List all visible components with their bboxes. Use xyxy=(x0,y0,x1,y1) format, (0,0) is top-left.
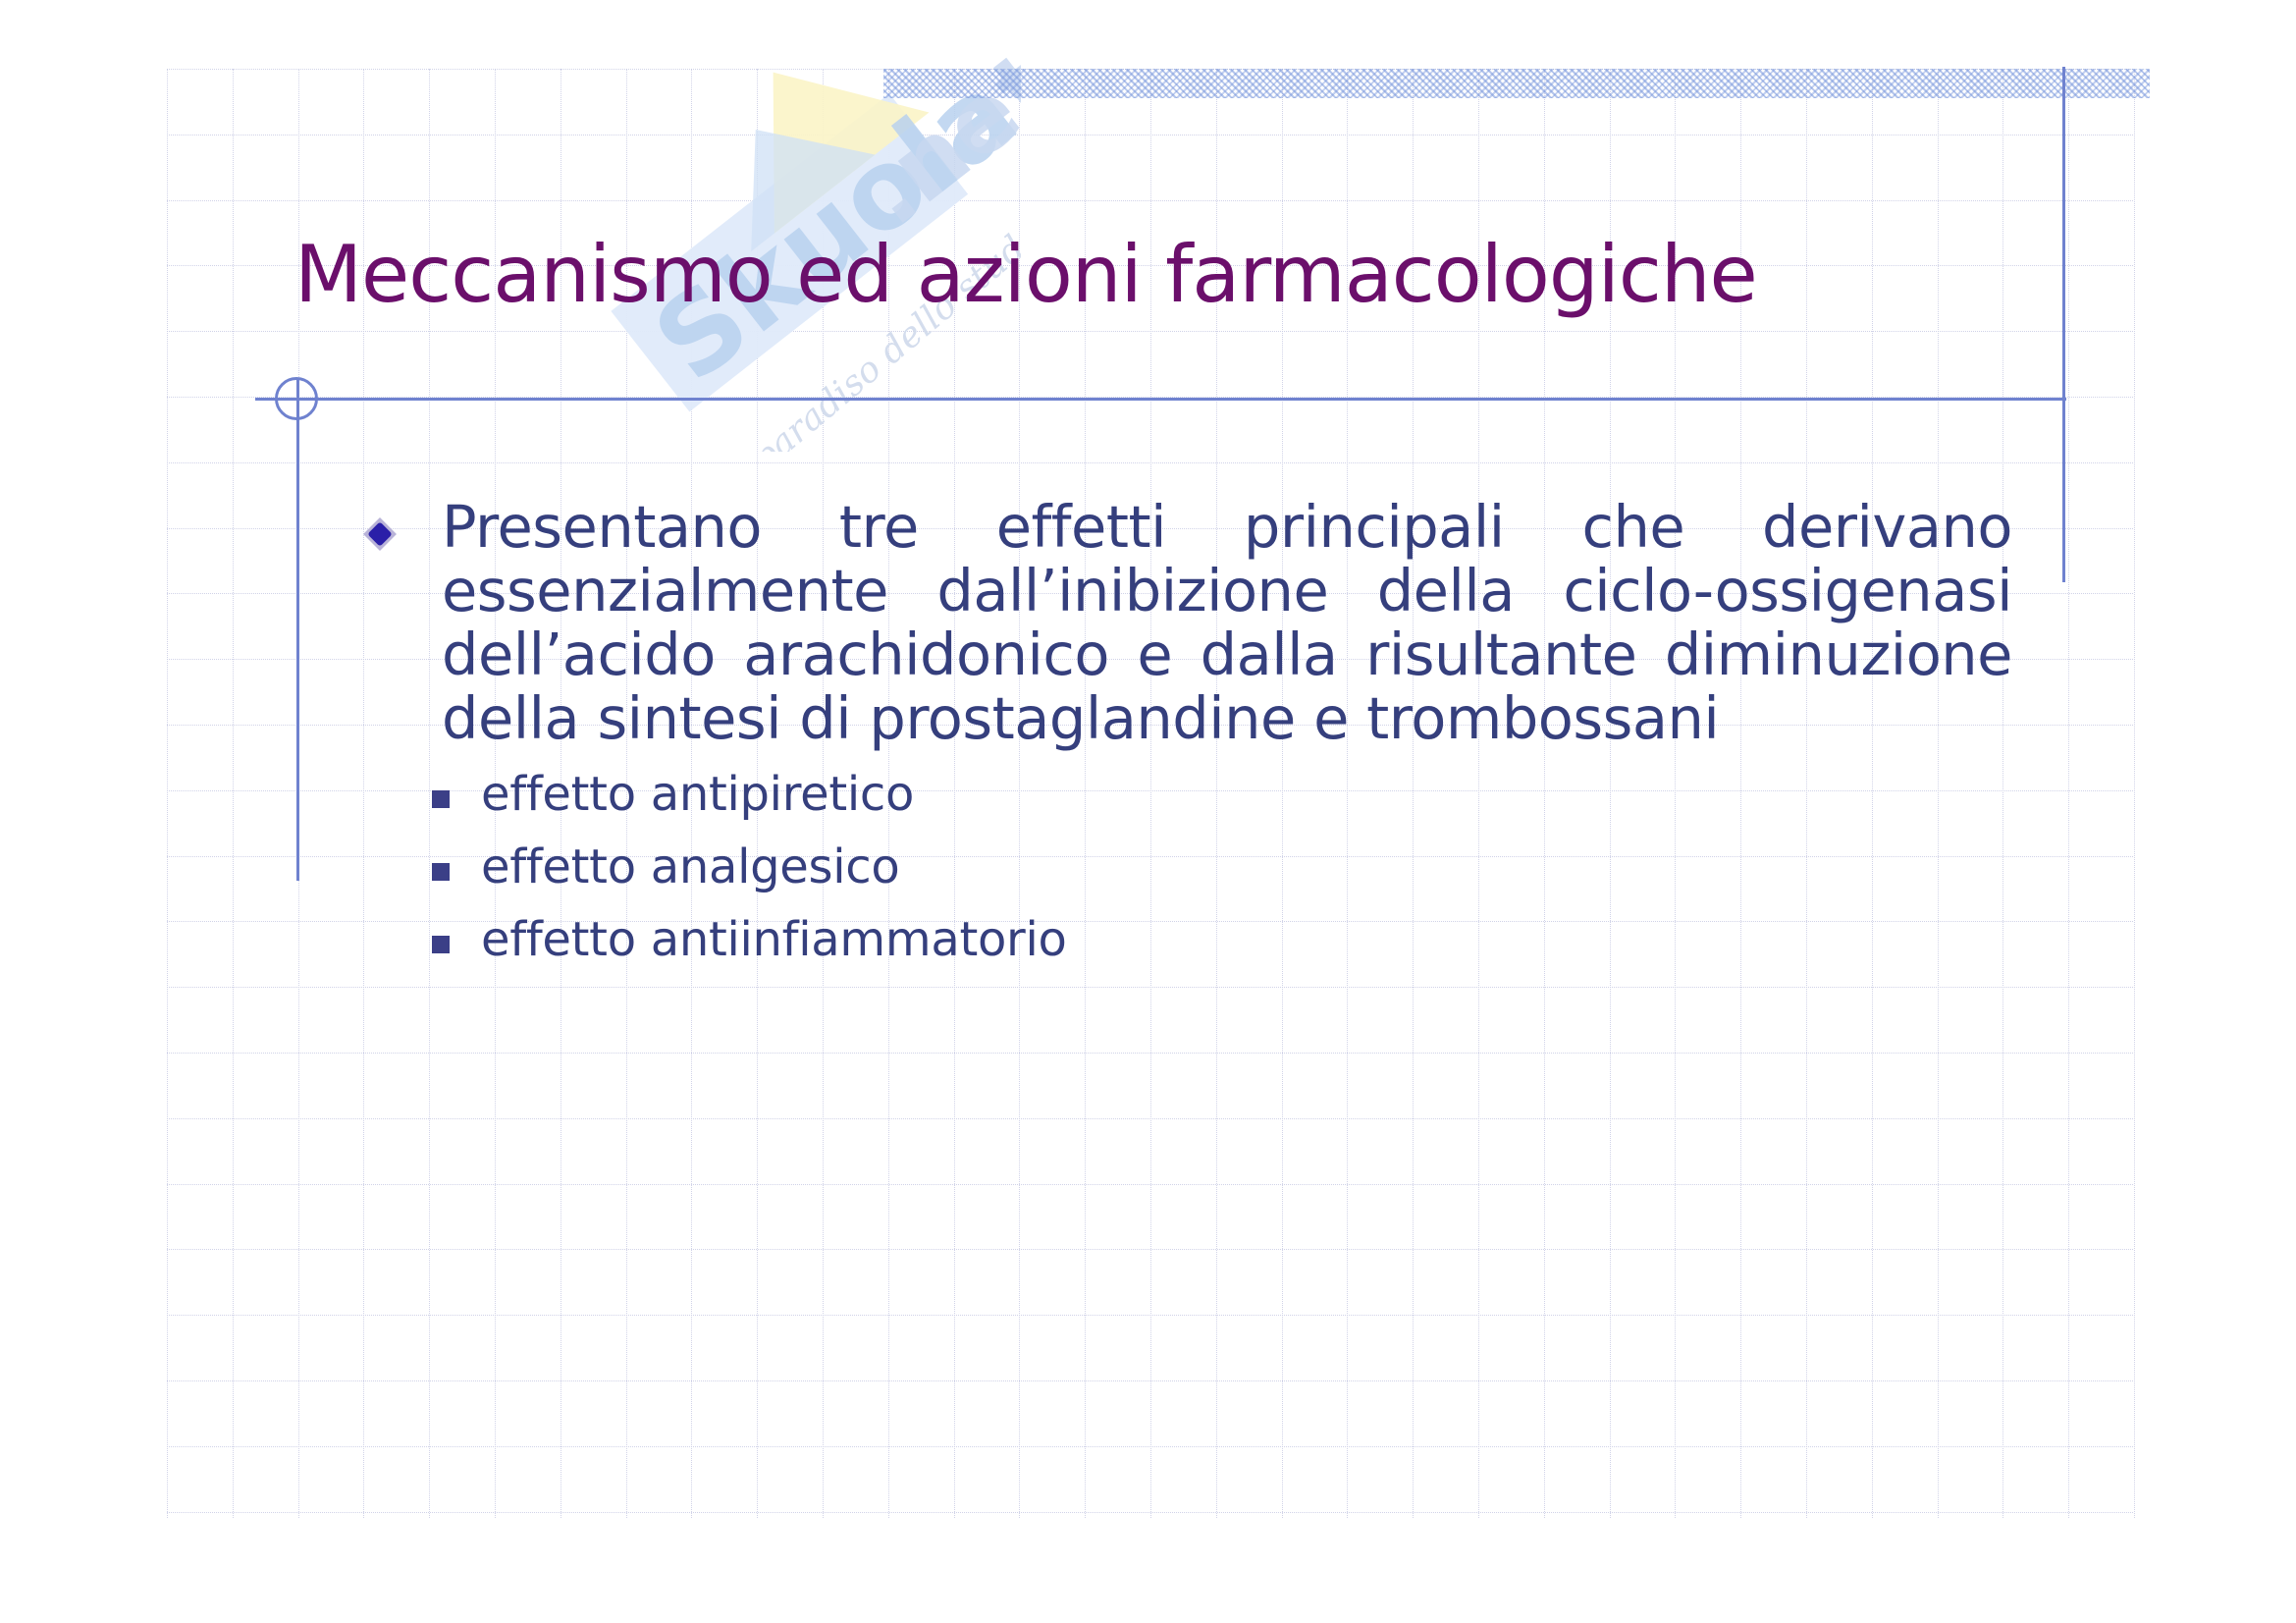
grid-line xyxy=(167,200,2133,201)
grid-line xyxy=(167,135,2133,135)
decorative-horizontal-rule xyxy=(255,398,2066,401)
diamond-bullet-icon xyxy=(363,517,397,551)
grid-line xyxy=(167,1249,2133,1250)
square-bullet-icon xyxy=(432,936,450,953)
grid-line xyxy=(167,69,168,1518)
decorative-right-vertical-rule xyxy=(2062,67,2065,582)
bullet-level2: effetto analgesico xyxy=(363,843,2012,891)
bullet-level2: effetto antiinfiammatorio xyxy=(363,916,2012,963)
square-bullet-icon xyxy=(432,863,450,881)
square-bullet-icon xyxy=(432,790,450,808)
decorative-circle-marker xyxy=(275,377,318,420)
grid-line xyxy=(167,1380,2133,1381)
grid-line xyxy=(2068,69,2069,1518)
bullet-level2-text: effetto antipiretico xyxy=(481,767,914,822)
bullet-level2-text: effetto antiinfiammatorio xyxy=(481,912,1067,967)
sub-bullet-list: effetto antipiretico effetto analgesico … xyxy=(363,771,2012,963)
svg-text:Skuola: Skuola xyxy=(632,49,1021,407)
grid-line xyxy=(167,1446,2133,1447)
grid-line xyxy=(167,1315,2133,1316)
bullet-level2: effetto antipiretico xyxy=(363,771,2012,818)
slide-title: Meccanismo ed azioni farmacologiche xyxy=(294,236,2061,314)
decorative-hatched-bar xyxy=(883,69,2150,98)
svg-text:.net: .net xyxy=(841,29,1021,246)
grid-line xyxy=(167,462,2133,463)
grid-line xyxy=(167,1118,2133,1119)
grid-line xyxy=(167,1512,2133,1513)
grid-line xyxy=(167,331,2133,332)
grid-line xyxy=(167,1053,2133,1054)
bullet-level1: Presentano tre effetti principali che de… xyxy=(363,496,2012,751)
slide-body: Presentano tre effetti principali che de… xyxy=(363,496,2012,963)
grid-line xyxy=(167,1184,2133,1185)
grid-line xyxy=(167,987,2133,988)
presentation-slide: Skuola Skuola .net il paradiso dello stu… xyxy=(0,0,2296,1623)
grid-line xyxy=(167,69,2133,70)
bullet-level1-text: Presentano tre effetti principali che de… xyxy=(442,493,2012,752)
bullet-level2-text: effetto analgesico xyxy=(481,839,899,894)
decorative-left-vertical-rule xyxy=(296,378,299,881)
grid-line xyxy=(2134,69,2135,1518)
grid-line xyxy=(233,69,234,1518)
